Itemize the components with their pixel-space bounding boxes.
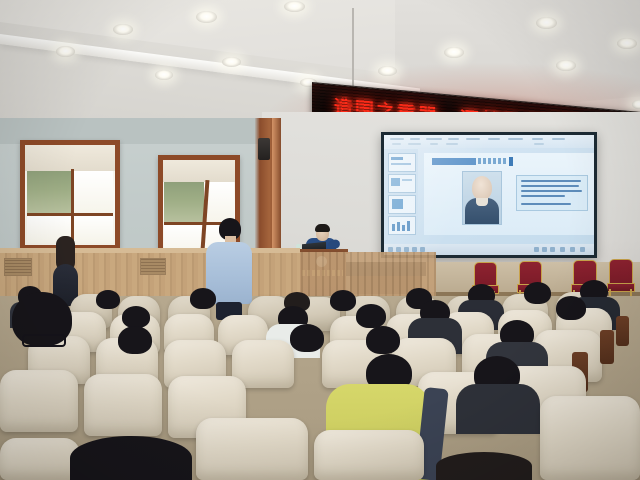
- audience-glasses-icon: [22, 334, 66, 347]
- audience-head: [118, 326, 152, 354]
- armrest: [616, 316, 629, 346]
- seat: [0, 370, 78, 432]
- projection-screen: [381, 132, 597, 258]
- wall-speaker: [258, 138, 270, 160]
- window-left-foliage: [27, 171, 73, 215]
- seat: [84, 374, 162, 436]
- downlight: [155, 70, 173, 80]
- wainscot-cap-rail: [0, 248, 300, 253]
- projected-slide-area: [384, 135, 594, 255]
- downlight: [444, 47, 464, 58]
- downlight: [284, 1, 305, 12]
- air-vent: [4, 258, 32, 276]
- audience-head-foreground: [436, 452, 532, 480]
- window-left-blind: [25, 145, 115, 171]
- seat: [0, 438, 80, 480]
- audience-head: [356, 304, 386, 328]
- downlight: [196, 11, 217, 23]
- window-left: [20, 140, 120, 250]
- downlight: [222, 57, 241, 67]
- window-left-mullion-v: [71, 169, 74, 243]
- audience-head: [556, 296, 586, 320]
- window-right-blind: [163, 160, 235, 182]
- audience-head: [190, 288, 216, 309]
- audience-head-foreground: [70, 436, 192, 480]
- audience-head: [290, 324, 324, 352]
- window-left-glass: [25, 145, 115, 245]
- armrest: [600, 330, 614, 364]
- downlight: [378, 66, 397, 76]
- air-vent: [140, 258, 166, 275]
- lecture-hall-photo: 造国之重器，逐梦航天国防: [0, 0, 640, 480]
- presenter-hair: [315, 224, 330, 232]
- screen-glare: [384, 135, 594, 255]
- audience-head: [122, 306, 150, 328]
- audience-head: [524, 282, 551, 304]
- audience-head: [366, 326, 400, 354]
- audience-head: [96, 290, 120, 309]
- window-right-foliage: [164, 182, 204, 224]
- seat: [196, 418, 308, 480]
- downlight: [113, 24, 133, 35]
- seat: [540, 396, 640, 480]
- seat: [314, 430, 424, 480]
- downlight: [56, 46, 75, 57]
- downlight: [556, 60, 576, 71]
- audience-head: [330, 290, 356, 311]
- window-left-mullion-h: [27, 213, 113, 216]
- red-banquet-chair: [609, 259, 633, 286]
- window-left-sky: [73, 171, 113, 215]
- downlight: [536, 17, 557, 29]
- audience-torso: [456, 384, 540, 434]
- downlight: [617, 38, 637, 49]
